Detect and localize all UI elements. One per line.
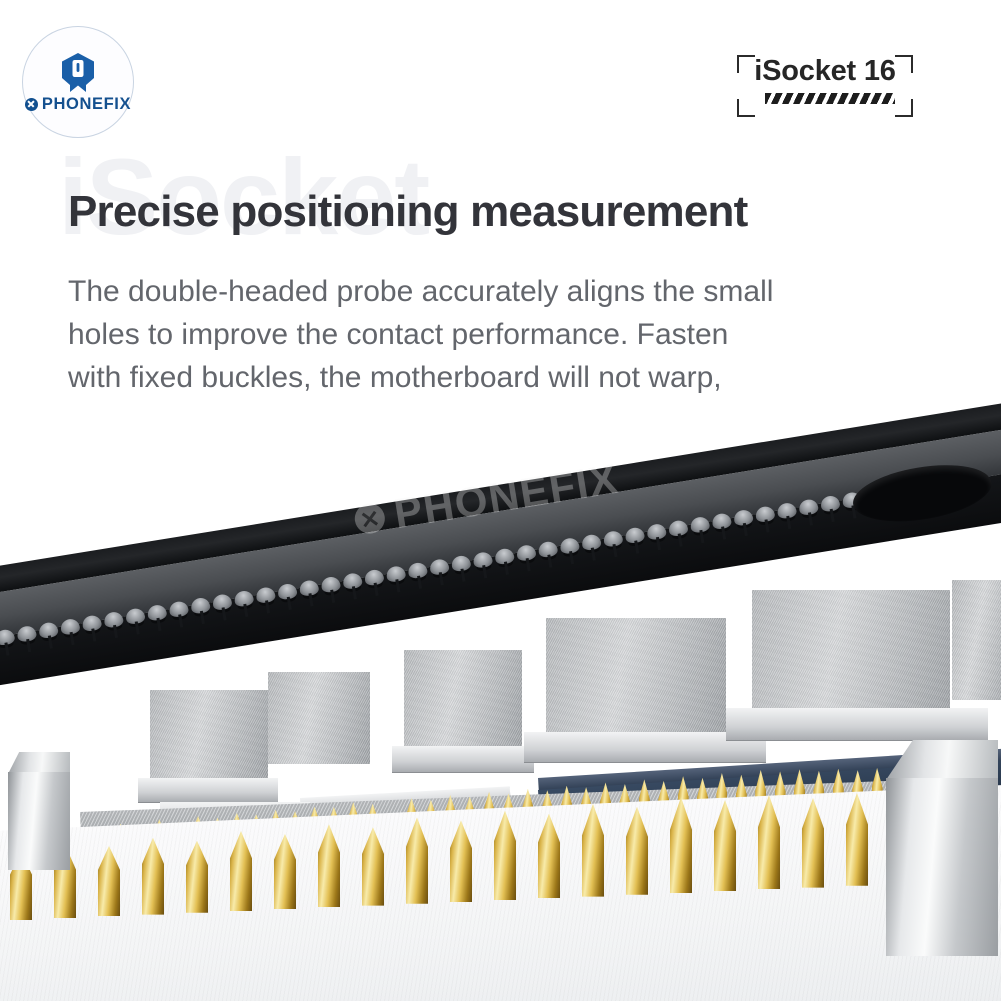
- gold-probe-pin-field-front: [0, 400, 1001, 1001]
- brand-badge: PHONEFIX: [22, 26, 134, 138]
- gold-probe-pin: [142, 838, 164, 915]
- gold-probe-pin: [846, 793, 868, 886]
- promo-image-root: PHONEFIX iSocket 16 iSocket Precise posi…: [0, 0, 1001, 1001]
- body-line: with fixed buckles, the motherboard will…: [68, 356, 868, 399]
- gold-probe-pin: [362, 827, 384, 905]
- phonefix-hexagon-logo-icon: [58, 52, 98, 94]
- body-line: The double-headed probe accurately align…: [68, 270, 868, 313]
- page-title: Precise positioning measurement: [68, 188, 747, 236]
- gold-probe-pin: [758, 795, 780, 889]
- corner-bracket-top-right-icon: [895, 55, 913, 73]
- corner-bracket-top-left-icon: [737, 55, 755, 73]
- gold-probe-pin: [450, 820, 472, 902]
- corner-bracket-bottom-right-icon: [895, 99, 913, 117]
- model-tag: iSocket 16: [737, 55, 913, 117]
- brand-wordmark: PHONEFIX: [25, 96, 131, 113]
- guide-post: [886, 778, 998, 956]
- gold-probe-pin: [582, 804, 604, 897]
- brand-name: PHONEFIX: [42, 96, 131, 113]
- gold-probe-pin: [670, 797, 692, 893]
- gold-probe-pin: [230, 831, 252, 911]
- product-photo: PHONEFIX: [0, 400, 1001, 1001]
- gold-probe-pin: [802, 798, 824, 888]
- model-name: iSocket 16: [754, 55, 895, 88]
- gold-probe-pin: [538, 814, 560, 899]
- gold-probe-pin: [274, 834, 296, 909]
- gold-probe-pin: [714, 800, 736, 891]
- body-line: holes to improve the contact performance…: [68, 313, 868, 356]
- diagonal-hatch-bar-icon: [765, 93, 895, 104]
- gold-probe-pin: [318, 824, 340, 907]
- gold-probe-pin: [406, 817, 428, 903]
- gold-probe-pin: [186, 841, 208, 913]
- gold-probe-pin: [494, 811, 516, 901]
- corner-bracket-bottom-left-icon: [737, 99, 755, 117]
- gold-probe-pin: [98, 846, 120, 916]
- circle-x-icon: [25, 98, 38, 111]
- guide-post: [8, 772, 70, 870]
- gold-probe-pin: [626, 807, 648, 895]
